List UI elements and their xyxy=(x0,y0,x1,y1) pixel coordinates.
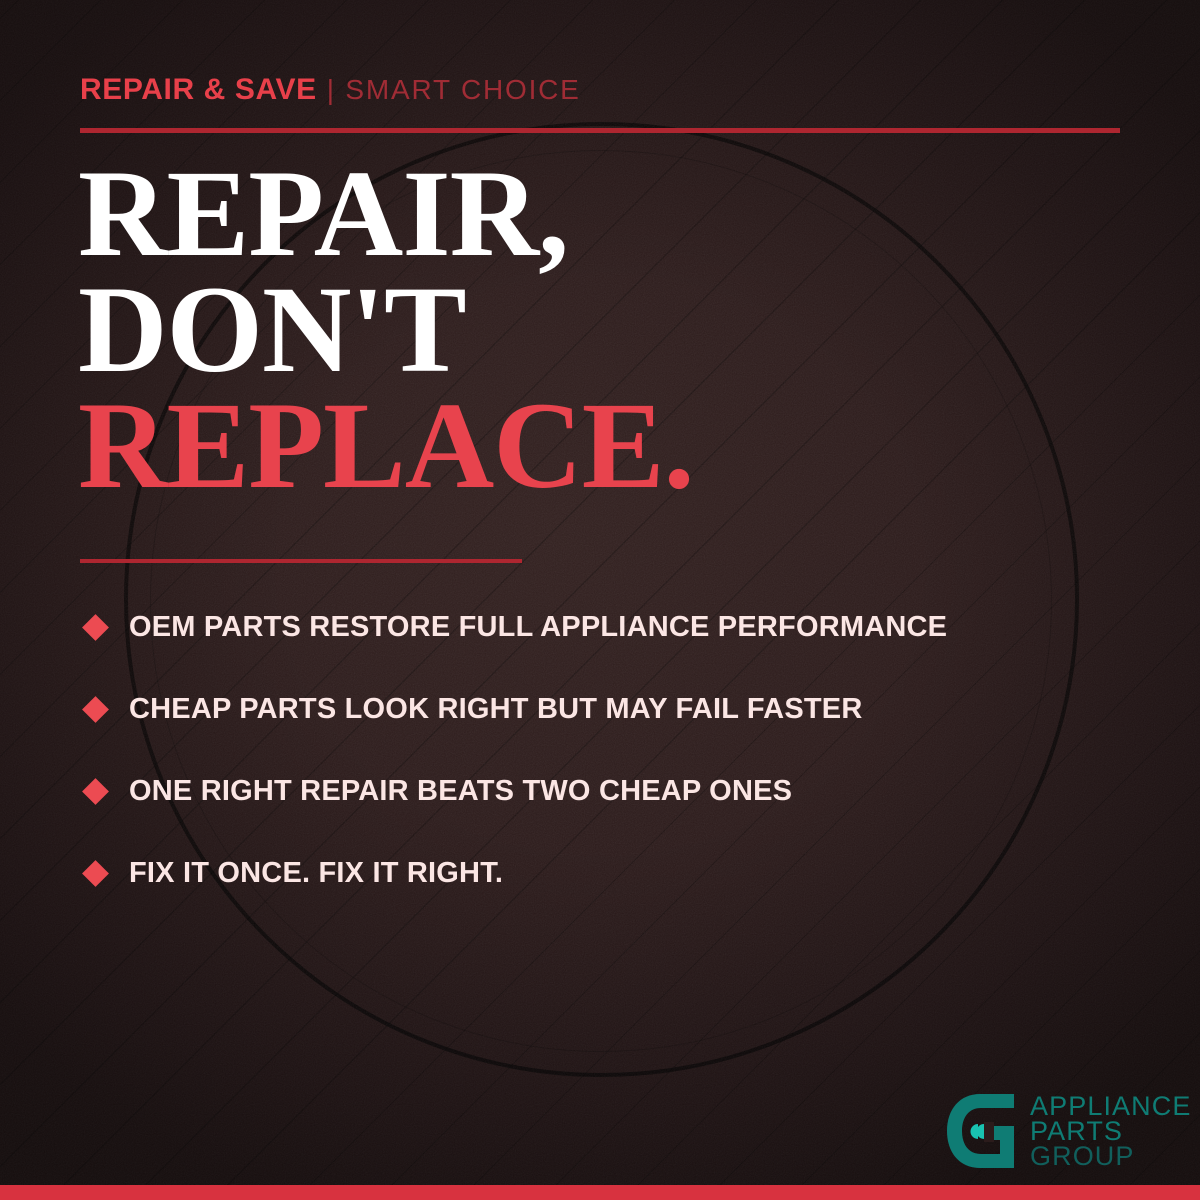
headline-line-2: DON'T xyxy=(78,272,1078,388)
list-item-label: CHEAP PARTS LOOK RIGHT BUT MAY FAIL FAST… xyxy=(129,693,862,726)
diamond-bullet-icon xyxy=(82,614,109,641)
list-item-label: OEM PARTS RESTORE FULL APPLIANCE PERFORM… xyxy=(129,611,947,644)
list-item: OEM PARTS RESTORE FULL APPLIANCE PERFORM… xyxy=(80,586,1160,668)
headline: REPAIR, DON'T REPLACE. xyxy=(78,156,1078,504)
list-item: FIX IT ONCE. FIX IT RIGHT. xyxy=(80,832,1160,914)
diamond-bullet-icon xyxy=(82,778,109,805)
kicker-line: REPAIR & SAVE| SMART CHOICE xyxy=(80,75,581,105)
g-monogram-icon xyxy=(944,1092,1018,1170)
bottom-accent-bar xyxy=(0,1185,1200,1200)
list-item: CHEAP PARTS LOOK RIGHT BUT MAY FAIL FAST… xyxy=(80,668,1160,750)
brand-word-group: GROUP xyxy=(1030,1144,1191,1169)
headline-line-1: REPAIR, xyxy=(78,156,1078,272)
brand-word-parts: PARTS xyxy=(1030,1119,1191,1144)
diamond-bullet-icon xyxy=(82,860,109,887)
list-item-label: FIX IT ONCE. FIX IT RIGHT. xyxy=(129,857,503,890)
poster-canvas: REPAIR & SAVE| SMART CHOICE REPAIR, DON'… xyxy=(0,0,1200,1200)
header-divider-rule xyxy=(80,128,1120,133)
list-item-label: ONE RIGHT REPAIR BEATS TWO CHEAP ONES xyxy=(129,775,792,808)
diamond-bullet-icon xyxy=(82,696,109,723)
benefit-list: OEM PARTS RESTORE FULL APPLIANCE PERFORM… xyxy=(80,586,1160,914)
kicker-strong-text: REPAIR & SAVE xyxy=(80,73,317,106)
headline-divider-rule xyxy=(80,559,522,563)
brand-logo: APPLIANCE PARTS GROUP xyxy=(944,1092,1191,1170)
headline-line-3: REPLACE. xyxy=(78,388,1078,504)
brand-logo-wordmark: APPLIANCE PARTS GROUP xyxy=(1030,1092,1191,1168)
kicker-light-text: | SMART CHOICE xyxy=(327,74,581,105)
poster-content: REPAIR & SAVE| SMART CHOICE REPAIR, DON'… xyxy=(0,0,1200,1200)
list-item: ONE RIGHT REPAIR BEATS TWO CHEAP ONES xyxy=(80,750,1160,832)
